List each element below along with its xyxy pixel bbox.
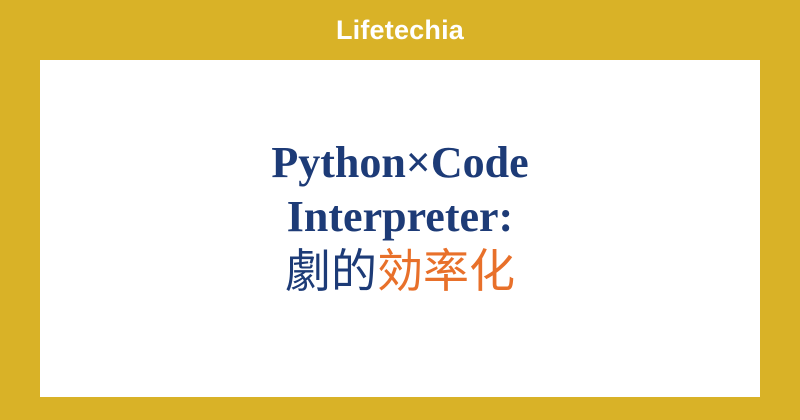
title-line-3-primary: 劇的 bbox=[285, 244, 377, 298]
title-line-3: 劇的効率化 bbox=[40, 244, 760, 298]
content-card: Python×Code Interpreter: 劇的効率化 bbox=[40, 60, 760, 397]
brand-header-band: Lifetechia bbox=[0, 0, 800, 60]
title-line-2: Interpreter: bbox=[40, 190, 760, 244]
title-line-3-accent: 効率化 bbox=[377, 244, 515, 298]
brand-title: Lifetechia bbox=[336, 17, 464, 44]
title-block: Python×Code Interpreter: 劇的効率化 bbox=[40, 136, 760, 298]
eyecatch-canvas: Lifetechia Python×Code Interpreter: 劇的効率… bbox=[0, 0, 800, 420]
title-line-1: Python×Code bbox=[40, 136, 760, 190]
